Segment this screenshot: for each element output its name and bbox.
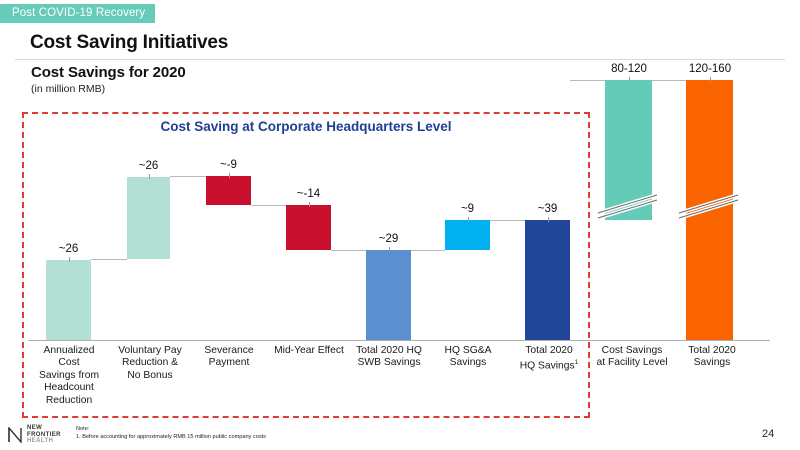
footnote-text: 1. Before accounting for approximately R…: [76, 434, 266, 440]
waterfall-connector-1: [91, 259, 127, 260]
bar-6[interactable]: [445, 220, 490, 250]
waterfall-chart: ~26AnnualizedCostSavings fromHeadcountRe…: [0, 0, 800, 450]
value-tick-9: [710, 77, 711, 82]
value-label-1: ~26: [46, 243, 91, 255]
value-tick-1: [69, 257, 70, 262]
value-label-4: ~-14: [286, 188, 331, 200]
bar-1[interactable]: [46, 260, 91, 340]
value-tick-8: [629, 77, 630, 82]
slide-canvas: Post COVID-19 Recovery Cost Saving Initi…: [0, 0, 800, 450]
bar-2[interactable]: [127, 177, 170, 259]
value-tick-7: [548, 217, 549, 222]
x-axis-baseline: [28, 340, 770, 341]
category-label-6: HQ SG&ASavings: [424, 345, 512, 370]
value-tick-2: [149, 174, 150, 179]
logo-mark-icon: [8, 427, 23, 448]
waterfall-connector-4: [331, 250, 366, 251]
bar-7[interactable]: [525, 220, 570, 340]
category-label-1: AnnualizedCostSavings fromHeadcountReduc…: [25, 345, 113, 407]
category-label-7: Total 2020HQ Savings1: [504, 345, 594, 373]
waterfall-connector-7: [570, 80, 605, 81]
category-label-3: SeverancePayment: [190, 345, 268, 370]
value-tick-6: [468, 217, 469, 222]
logo-line-3: HEALTH: [27, 438, 53, 444]
waterfall-connector-3: [251, 205, 286, 206]
value-label-2: ~26: [127, 160, 170, 172]
value-label-7: ~39: [525, 203, 570, 215]
value-tick-3: [229, 173, 230, 178]
category-label-9: Total 2020Savings: [668, 345, 756, 370]
value-label-5: ~29: [366, 233, 411, 245]
bar-3[interactable]: [206, 176, 251, 205]
company-logo: NEW FRONTIER HEALTH: [8, 425, 70, 445]
value-label-3: ~-9: [206, 159, 251, 171]
waterfall-connector-5: [411, 250, 445, 251]
category-label-8: Cost Savingsat Facility Level: [586, 345, 678, 370]
value-label-6: ~9: [445, 203, 490, 215]
waterfall-connector-8: [652, 80, 686, 81]
bar-8[interactable]: [605, 80, 652, 220]
category-label-4: Mid-Year Effect: [263, 345, 355, 357]
value-label-9: 120-160: [681, 63, 739, 75]
bar-4[interactable]: [286, 205, 331, 250]
value-tick-4: [309, 202, 310, 207]
bar-5[interactable]: [366, 250, 411, 340]
value-tick-5: [389, 247, 390, 252]
page-number: 24: [762, 428, 774, 440]
value-label-8: 80-120: [601, 63, 657, 75]
logo-line-1: NEW: [27, 425, 42, 431]
category-label-2: Voluntary PayReduction &No Bonus: [110, 345, 190, 382]
waterfall-connector-6: [490, 220, 525, 221]
bar-9[interactable]: [686, 80, 733, 340]
footnote-label: Note:: [76, 426, 89, 432]
category-label-5: Total 2020 HQSWB Savings: [344, 345, 434, 370]
waterfall-connector-2: [170, 176, 206, 177]
logo-line-2: FRONTIER: [27, 432, 61, 438]
